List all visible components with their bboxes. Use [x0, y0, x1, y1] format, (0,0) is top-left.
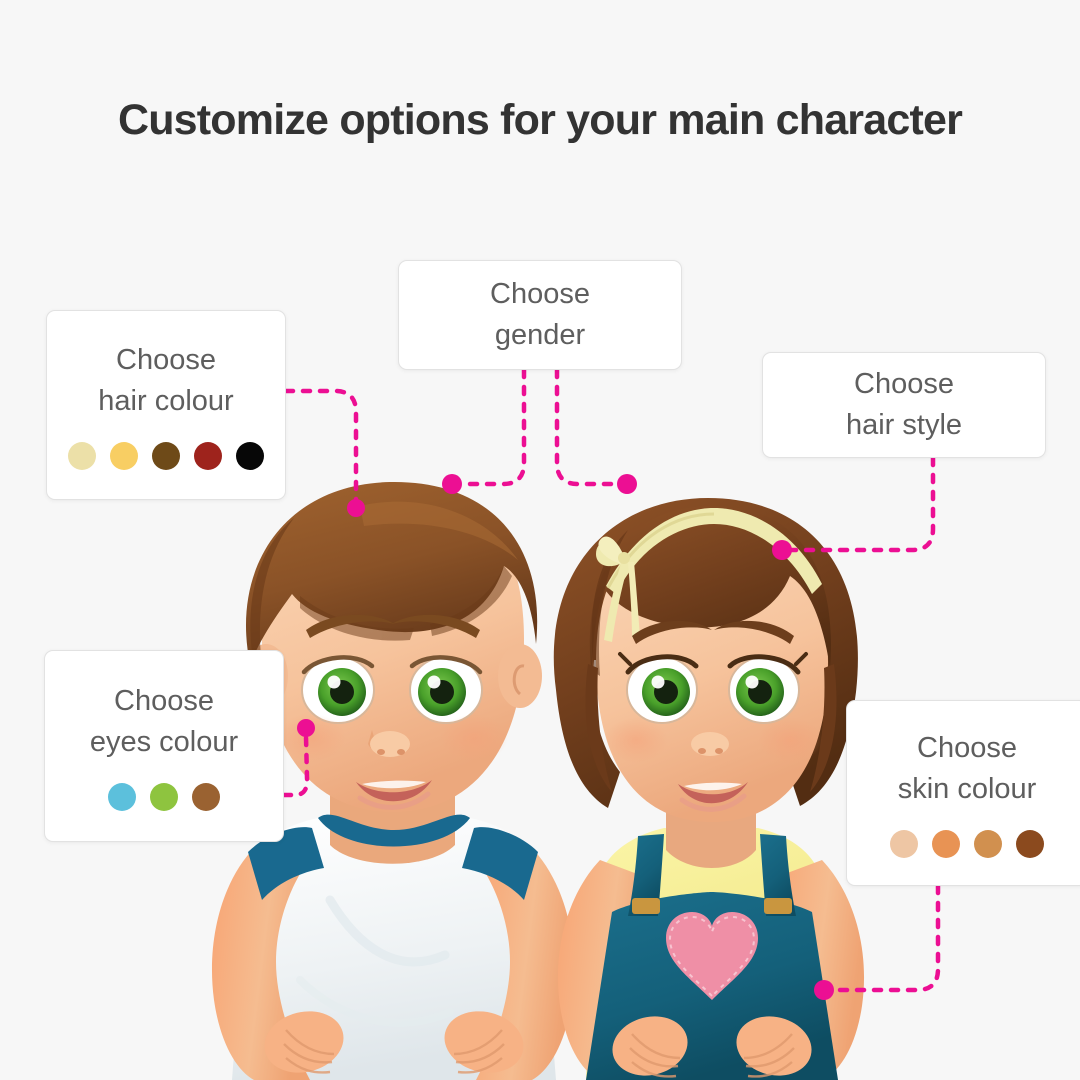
- swatch-hair-auburn[interactable]: [194, 442, 222, 470]
- card-hair-style[interactable]: Choose hair style: [762, 352, 1046, 458]
- swatch-skin-medium[interactable]: [974, 830, 1002, 858]
- wire-dot-eyes-colour: [297, 719, 315, 737]
- swatch-skin-dark[interactable]: [1016, 830, 1044, 858]
- card-hair-colour[interactable]: Choose hair colour: [46, 310, 286, 500]
- wire-eyes-colour: [284, 737, 307, 795]
- swatch-hair-golden[interactable]: [110, 442, 138, 470]
- wire-dot-gender-right: [617, 474, 637, 494]
- wire-hair-style: [792, 458, 933, 550]
- swatch-skin-light[interactable]: [890, 830, 918, 858]
- connector-lines: [0, 0, 1080, 1080]
- card-hair-colour-label: Choose hair colour: [84, 340, 247, 422]
- swatch-eyes-green[interactable]: [150, 783, 178, 811]
- card-eyes-colour-label: Choose eyes colour: [76, 681, 252, 763]
- wire-gender-left: [462, 370, 524, 484]
- wire-dot-hair-colour: [347, 499, 365, 517]
- eyes-colour-swatches: [108, 783, 220, 811]
- swatch-eyes-brown[interactable]: [192, 783, 220, 811]
- hair-colour-swatches: [68, 442, 264, 470]
- card-hair-style-label: Choose hair style: [832, 364, 976, 446]
- swatch-eyes-blue[interactable]: [108, 783, 136, 811]
- card-gender-label: Choose gender: [476, 274, 604, 356]
- card-gender[interactable]: Choose gender: [398, 260, 682, 370]
- screen: Customize options for your main characte…: [0, 0, 1080, 1080]
- swatch-hair-black[interactable]: [236, 442, 264, 470]
- swatch-skin-medium-light[interactable]: [932, 830, 960, 858]
- wire-dot-gender-left: [442, 474, 462, 494]
- swatch-hair-brown[interactable]: [152, 442, 180, 470]
- wire-skin-colour: [834, 886, 938, 990]
- wire-hair-colour: [286, 391, 356, 503]
- wire-dot-skin-colour: [814, 980, 834, 1000]
- card-skin-colour-label: Choose skin colour: [884, 728, 1051, 810]
- wire-dot-hair-style: [772, 540, 792, 560]
- card-skin-colour[interactable]: Choose skin colour: [846, 700, 1080, 886]
- skin-colour-swatches: [890, 830, 1044, 858]
- card-eyes-colour[interactable]: Choose eyes colour: [44, 650, 284, 842]
- swatch-hair-blonde[interactable]: [68, 442, 96, 470]
- wire-gender-right: [557, 370, 618, 484]
